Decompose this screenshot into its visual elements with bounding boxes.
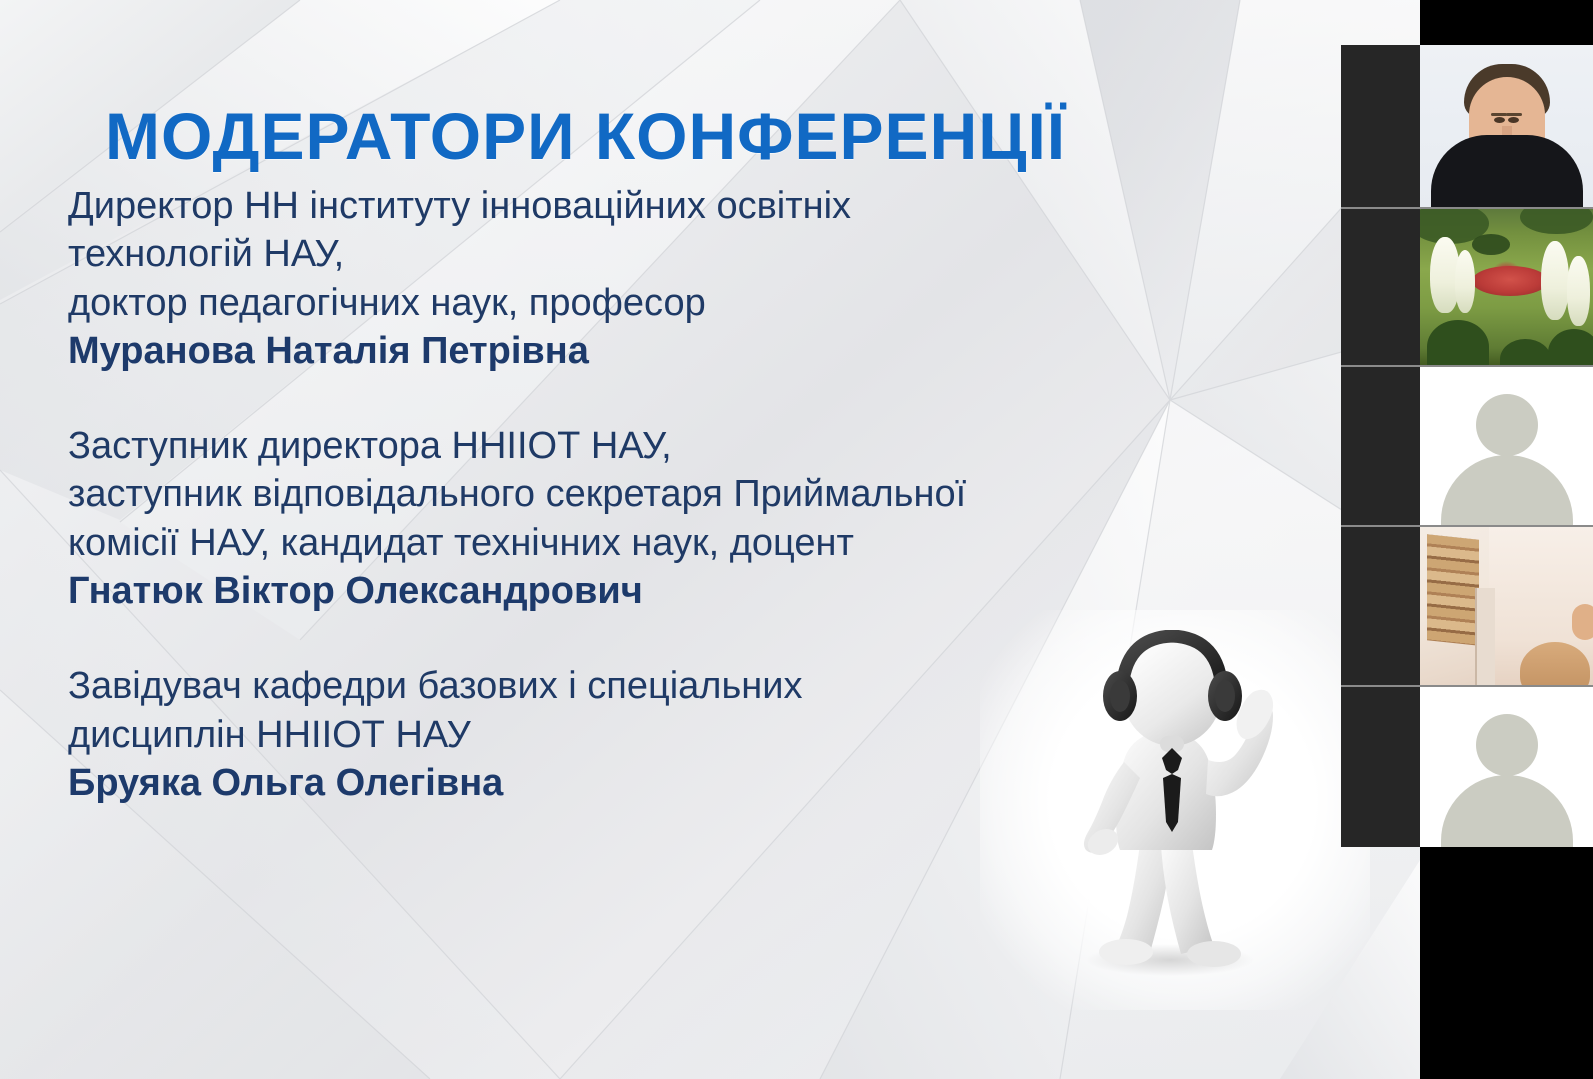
- participant-default-avatar-icon: [1420, 687, 1593, 847]
- participant-tile[interactable]: [1341, 45, 1593, 207]
- participants-video-strip[interactable]: [1420, 0, 1593, 1079]
- participant-photo-garden-icon: [1420, 209, 1593, 367]
- participant-default-avatar-icon: [1420, 367, 1593, 527]
- screen-share-stage: МОДЕРАТОРИ КОНФЕРЕНЦІЇ Директор НН інсти…: [0, 0, 1593, 1079]
- participant-photo-portrait-icon: [1420, 45, 1593, 207]
- moderator-entry: Заступник директора ННІІОТ НАУ, заступни…: [68, 422, 1298, 616]
- moderator-role-line: Директор НН інституту інноваційних освіт…: [68, 182, 1298, 230]
- moderator-role-line: доктор педагогічних наук, професор: [68, 279, 1298, 327]
- moderator-role-line: комісії НАУ, кандидат технічних наук, до…: [68, 519, 1298, 567]
- participants-panel: [1341, 45, 1593, 845]
- moderator-role-line: технологій НАУ,: [68, 230, 1298, 278]
- slide-title: МОДЕРАТОРИ КОНФЕРЕНЦІЇ: [105, 102, 1305, 171]
- participant-webcam-room-icon: [1420, 527, 1593, 687]
- mannequin-svg: [1010, 630, 1340, 980]
- participant-tile[interactable]: [1341, 365, 1593, 527]
- participant-tile[interactable]: [1341, 685, 1593, 847]
- 3d-mannequin-with-headphones-icon: [1010, 630, 1340, 980]
- moderator-role-line: Заступник директора ННІІОТ НАУ,: [68, 422, 1298, 470]
- moderator-role-line: заступник відповідального секретаря Прий…: [68, 470, 1298, 518]
- moderator-entry: Директор НН інституту інноваційних освіт…: [68, 182, 1298, 376]
- participant-tile[interactable]: [1341, 207, 1593, 367]
- presentation-slide: МОДЕРАТОРИ КОНФЕРЕНЦІЇ Директор НН інсти…: [0, 0, 1420, 1079]
- participant-tile[interactable]: [1341, 525, 1593, 687]
- moderator-name: Гнатюк Віктор Олександрович: [68, 567, 1298, 616]
- moderator-name: Муранова Наталія Петрівна: [68, 327, 1298, 376]
